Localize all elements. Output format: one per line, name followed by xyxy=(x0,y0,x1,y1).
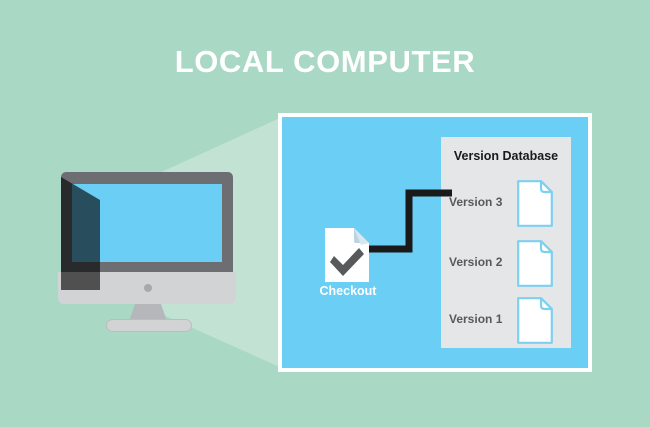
panel-inner: Checkout Version Database Version 3 Vers… xyxy=(282,117,588,368)
desktop-computer xyxy=(61,172,233,320)
monitor-screen xyxy=(72,184,222,262)
diagram-canvas: LOCAL COMPUTER Ch xyxy=(0,0,650,427)
page-title: LOCAL COMPUTER xyxy=(0,44,650,80)
version-database-title: Version Database xyxy=(441,149,571,163)
checkout-node[interactable]: Checkout xyxy=(325,228,373,303)
monitor-power-dot-icon xyxy=(144,284,152,292)
version-database-panel: Version Database Version 3 Version 2 xyxy=(441,137,571,348)
checkout-label: Checkout xyxy=(313,284,383,298)
document-check-icon xyxy=(325,228,369,282)
document-icon xyxy=(517,180,553,227)
local-computer-panel: Checkout Version Database Version 3 Vers… xyxy=(278,113,592,372)
version-row[interactable]: Version 3 xyxy=(441,175,571,231)
version-row[interactable]: Version 1 xyxy=(441,292,571,348)
document-icon xyxy=(517,240,553,287)
document-icon xyxy=(517,297,553,344)
version-label: Version 1 xyxy=(449,312,502,326)
version-label: Version 3 xyxy=(449,195,502,209)
monitor-stand-base xyxy=(106,319,192,332)
version-label: Version 2 xyxy=(449,255,502,269)
version-row[interactable]: Version 2 xyxy=(441,235,571,291)
